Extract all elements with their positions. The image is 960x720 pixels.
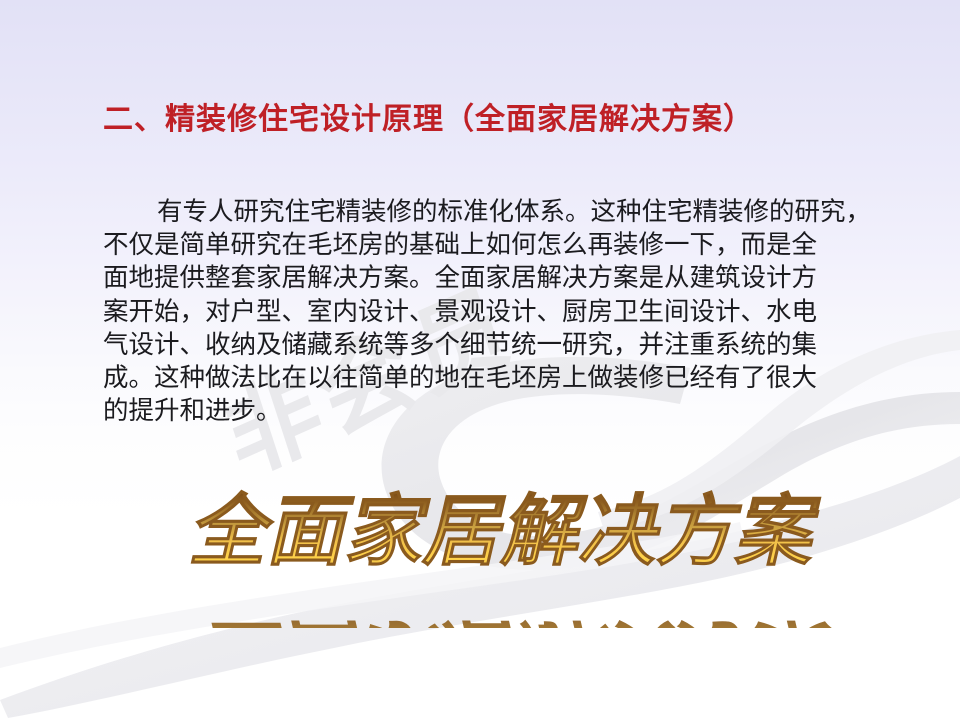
body-line: 案开始，对户型、室内设计、景观设计、厨房卫生间设计、水电 xyxy=(103,296,865,329)
body-line: 的提升和进步。 xyxy=(103,395,865,428)
wordart-main-text: 全面家居解决方案 xyxy=(182,486,829,577)
wordart-全面家居解决方案: 全面家居解决方案 全面家居解决方案 xyxy=(186,470,786,640)
slide-title: 二、精装修住宅设计原理（全面家居解决方案） xyxy=(103,100,863,141)
wordart-reflection-text: 全面家居解决方案 xyxy=(203,609,850,700)
body-line: 气设计、收纳及储藏系统等多个细节统一研究，并注重系统的集 xyxy=(103,329,865,362)
slide-canvas: 非会员 二、精装修住宅设计原理（全面家居解决方案） 有专人研究住宅精装修的标准化… xyxy=(0,0,960,720)
body-line: 面地提供整套家居解决方案。全面家居解决方案是从建筑设计方 xyxy=(103,262,865,295)
body-paragraph: 有专人研究住宅精装修的标准化体系。这种住宅精装修的研究， 不仅是简单研究在毛坯房… xyxy=(103,196,865,428)
body-line: 有专人研究住宅精装修的标准化体系。这种住宅精装修的研究， xyxy=(103,196,865,229)
body-line: 不仅是简单研究在毛坯房的基础上如何怎么再装修一下，而是全 xyxy=(103,229,865,262)
body-line: 成。这种做法比在以往简单的地在毛坯房上做装修已经有了很大 xyxy=(103,362,865,395)
